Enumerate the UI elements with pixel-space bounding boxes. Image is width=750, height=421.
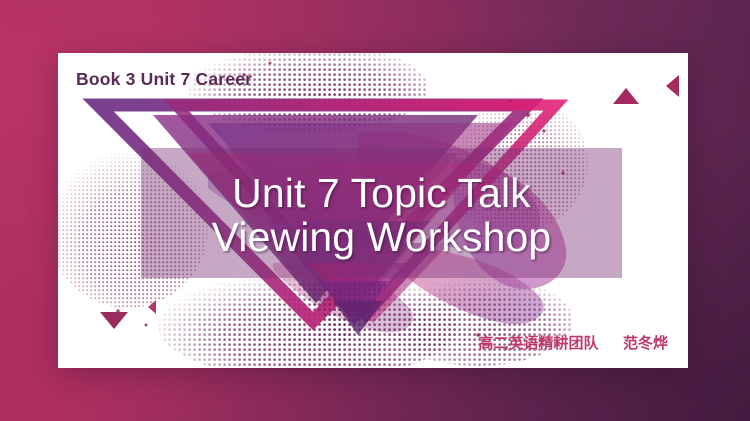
title-line-1: Unit 7 Topic Talk <box>232 172 531 214</box>
triangle-bottom-left-down <box>100 312 128 329</box>
title-line-2: Viewing Workshop <box>212 216 552 258</box>
slide-kicker: Book 3 Unit 7 Career <box>76 69 252 90</box>
page-title: Unit 7 Topic Talk Viewing Workshop <box>141 150 622 280</box>
byline-team: 高二英语精耕团队 <box>479 334 599 352</box>
slide-card: Book 3 Unit 7 Career Unit 7 Topic Talk V… <box>58 53 688 368</box>
byline-author: 范冬烨 <box>623 334 668 352</box>
triangle-bottom-left-small <box>148 300 156 314</box>
triangle-top-right-up <box>613 88 639 104</box>
triangle-top-right-left <box>666 75 679 97</box>
slide-canvas: Book 3 Unit 7 Career Unit 7 Topic Talk V… <box>0 0 750 421</box>
byline: 高二英语精耕团队 范冬烨 <box>479 332 669 353</box>
